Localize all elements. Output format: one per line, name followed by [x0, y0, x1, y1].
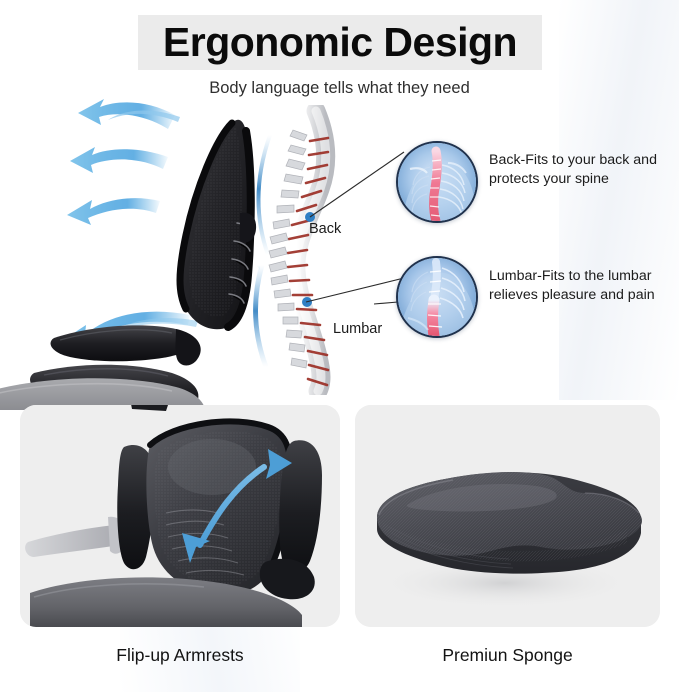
- xray-torso-spine-icon: [398, 143, 476, 221]
- airflow-arrow-group: [60, 99, 198, 353]
- page-title: Ergonomic Design: [138, 13, 542, 71]
- callout-back-line1: Back-Fits to your back and: [489, 151, 679, 170]
- panel-caption-sponge: Premiun Sponge: [355, 645, 660, 666]
- callout-back-line2: protects your spine: [489, 170, 679, 189]
- chair-side-view-illustration: [0, 95, 260, 410]
- background-sheen-right: [559, 0, 679, 400]
- inset-lumbar-xray: [396, 256, 478, 338]
- flip-up-armrest-image: [20, 405, 340, 627]
- callout-text-lumbar: Lumbar-Fits to the lumbar relieves pleas…: [489, 267, 679, 304]
- feature-panel-armrest: [20, 405, 340, 627]
- spine-label-lumbar: Lumbar: [333, 321, 382, 337]
- panel-caption-armrest: Flip-up Armrests: [20, 645, 340, 666]
- infographic-canvas: Ergonomic Design Body language tells wha…: [0, 0, 679, 692]
- xray-lumbar-spine-icon: [398, 258, 476, 336]
- chair-armrest-upper: [51, 325, 201, 365]
- feature-panel-sponge: [355, 405, 660, 627]
- inset-back-xray: [396, 141, 478, 223]
- callout-text-back: Back-Fits to your back and protects your…: [489, 151, 679, 188]
- seat-cushion-image: [355, 405, 660, 627]
- callout-lumbar-line2: relieves pleasure and pain: [489, 286, 679, 305]
- chair-backrest: [180, 120, 256, 330]
- callout-leader-lines: [300, 130, 410, 350]
- callout-lumbar-line1: Lumbar-Fits to the lumbar: [489, 267, 679, 286]
- spine-label-back: Back: [309, 221, 341, 237]
